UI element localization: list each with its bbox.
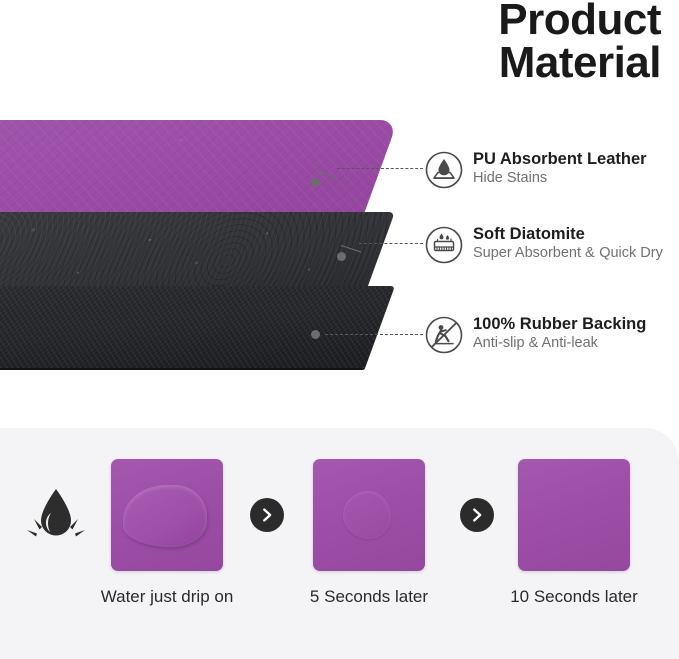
leader-line-diatomite <box>359 243 423 244</box>
feature-soft-diatomite: Soft Diatomite Super Absorbent & Quick D… <box>424 224 679 265</box>
feature-pu-absorbent-leather: PU Absorbent Leather Hide Stains <box>424 149 679 190</box>
demo-swatch-step-2 <box>313 459 425 571</box>
demo-swatch-step-1 <box>111 459 223 571</box>
feature-subtitle-line-1: Super Absorbent & <box>473 245 595 261</box>
mat-layer-stack <box>0 108 420 378</box>
water-stain-faint <box>343 491 391 539</box>
leader-dot-rubber <box>311 330 320 339</box>
title-line-1: Product <box>241 0 661 41</box>
water-splash-icon <box>20 483 92 549</box>
feature-subtitle-line-2: Quick Dry <box>599 245 663 261</box>
pu-leather-layer <box>0 120 398 220</box>
leader-line-pu <box>337 168 423 169</box>
leader-dot-pu <box>311 178 320 187</box>
page-title: Product Material <box>241 0 661 84</box>
demo-swatch-step-3 <box>518 459 630 571</box>
leader-line-rubber <box>325 334 423 335</box>
chevron-right-icon <box>460 498 494 532</box>
feature-rubber-backing: 100% Rubber Backing Anti-slip & Anti-lea… <box>424 314 679 355</box>
demo-caption: 5 Seconds later <box>249 587 489 607</box>
water-stain-large <box>123 485 207 547</box>
feature-title: 100% Rubber Backing <box>473 315 646 333</box>
feature-subtitle: Hide Stains <box>473 170 547 186</box>
rubber-layer <box>0 286 395 368</box>
water-drop-absorb-icon <box>424 150 464 190</box>
diatomite-layer <box>0 212 395 294</box>
leader-dot-diatomite <box>337 252 346 261</box>
no-slip-icon <box>424 315 464 355</box>
feature-title: PU Absorbent Leather <box>473 150 647 168</box>
feature-subtitle: Anti-slip & Anti-leak <box>473 335 598 351</box>
diatomite-pad-icon <box>424 225 464 265</box>
title-line-2: Material <box>241 41 661 84</box>
chevron-right-icon <box>250 498 284 532</box>
demo-caption: 10 Seconds later <box>454 587 679 607</box>
feature-title: Soft Diatomite <box>473 225 585 243</box>
